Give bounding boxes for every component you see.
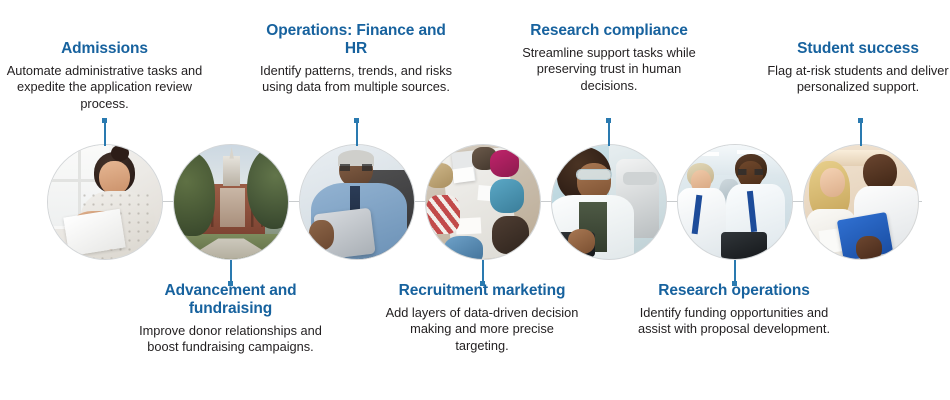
- node-circle-research-compliance[interactable]: [551, 144, 667, 260]
- heading-admissions: Admissions: [2, 40, 207, 58]
- node-circle-research-operations[interactable]: [677, 144, 793, 260]
- caption-operations: Operations: Finance and HR Identify patt…: [256, 22, 456, 96]
- body-student-success: Flag at-risk students and deliver person…: [766, 63, 950, 96]
- student-success-photo: [804, 145, 918, 259]
- heading-student-success: Student success: [766, 40, 950, 58]
- caption-research-operations: Research operations Identify funding opp…: [634, 282, 834, 338]
- node-circle-operations[interactable]: [299, 144, 415, 260]
- body-admissions: Automate administrative tasks and expedi…: [2, 63, 207, 112]
- node-circle-recruitment[interactable]: [425, 144, 541, 260]
- heading-research-operations: Research operations: [634, 282, 834, 300]
- rail-mask-right: [922, 195, 950, 209]
- operations-photo: [300, 145, 414, 259]
- heading-advancement: Advancement and fundraising: [133, 282, 328, 318]
- node-circle-student-success[interactable]: [803, 144, 919, 260]
- node-circle-advancement[interactable]: [173, 144, 289, 260]
- body-research-operations: Identify funding opportunities and assis…: [634, 305, 834, 338]
- admissions-photo: [48, 145, 162, 259]
- node-circle-admissions[interactable]: [47, 144, 163, 260]
- caption-student-success: Student success Flag at-risk students an…: [766, 40, 950, 96]
- heading-operations: Operations: Finance and HR: [256, 22, 456, 58]
- research-compliance-photo: [552, 145, 666, 259]
- stem-admissions: [104, 118, 106, 146]
- body-operations: Identify patterns, trends, and risks usi…: [256, 63, 456, 96]
- rail-mask-left: [0, 195, 48, 209]
- advancement-photo: [174, 145, 288, 259]
- heading-recruitment: Recruitment marketing: [383, 282, 581, 300]
- stem-operations: [356, 118, 358, 146]
- body-recruitment: Add layers of data-driven decision makin…: [383, 305, 581, 354]
- heading-research-compliance: Research compliance: [512, 22, 706, 40]
- recruitment-photo: [426, 145, 540, 259]
- body-research-compliance: Streamline support tasks while preservin…: [512, 45, 706, 94]
- caption-research-compliance: Research compliance Streamline support t…: [512, 22, 706, 94]
- caption-advancement: Advancement and fundraising Improve dono…: [133, 282, 328, 356]
- caption-recruitment: Recruitment marketing Add layers of data…: [383, 282, 581, 354]
- body-advancement: Improve donor relationships and boost fu…: [133, 323, 328, 356]
- stem-research-compliance: [608, 118, 610, 146]
- infographic-canvas: Admissions Automate administrative tasks…: [0, 0, 950, 400]
- research-operations-photo: [678, 145, 792, 259]
- stem-student-success: [860, 118, 862, 146]
- caption-admissions: Admissions Automate administrative tasks…: [2, 40, 207, 112]
